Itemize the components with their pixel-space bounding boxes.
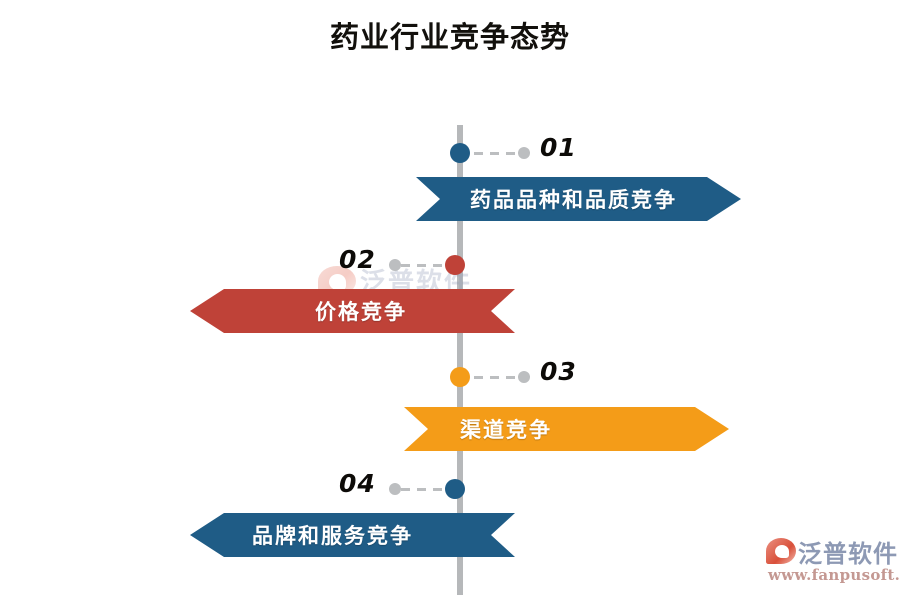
step-number-04: 04 (339, 469, 376, 498)
small-dot-02 (389, 259, 401, 271)
diagram-canvas: 药业行业竞争态势 泛普软件 FANPU SOFTWARE 01 药品品种和品质竞… (0, 0, 900, 600)
connector-04: 04 (339, 477, 469, 501)
brand-url: www.fanpusoft.com (768, 566, 900, 584)
connector-01: 01 (450, 141, 580, 165)
node-dot-04[interactable] (445, 479, 465, 499)
banner-label-03: 渠道竞争 (460, 414, 552, 444)
banner-label-01: 药品品种和品质竞争 (470, 184, 677, 214)
dash-line-04 (401, 488, 445, 491)
dash-line-02 (401, 264, 445, 267)
page-title: 药业行业竞争态势 (0, 14, 900, 56)
small-dot-04 (389, 483, 401, 495)
small-dot-03 (518, 371, 530, 383)
banner-label-02: 价格竞争 (315, 296, 407, 326)
banner-02[interactable]: 价格竞争 (190, 289, 515, 333)
step-number-02: 02 (339, 245, 376, 274)
banner-label-04: 品牌和服务竞争 (252, 520, 413, 550)
connector-03: 03 (450, 365, 580, 389)
dash-line-03 (474, 376, 518, 379)
dash-line-01 (474, 152, 518, 155)
banner-03[interactable]: 渠道竞争 (404, 407, 729, 451)
brand-name: 泛普软件 (798, 534, 898, 569)
connector-02: 02 (339, 253, 469, 277)
node-dot-03[interactable] (450, 367, 470, 387)
brand-logo: 泛普软件 www.fanpusoft.com (766, 536, 894, 588)
brand-swoosh-icon (766, 538, 796, 564)
step-number-03: 03 (540, 357, 577, 386)
banner-01[interactable]: 药品品种和品质竞争 (416, 177, 741, 221)
node-dot-02[interactable] (445, 255, 465, 275)
step-number-01: 01 (540, 133, 577, 162)
banner-04[interactable]: 品牌和服务竞争 (190, 513, 515, 557)
small-dot-01 (518, 147, 530, 159)
node-dot-01[interactable] (450, 143, 470, 163)
